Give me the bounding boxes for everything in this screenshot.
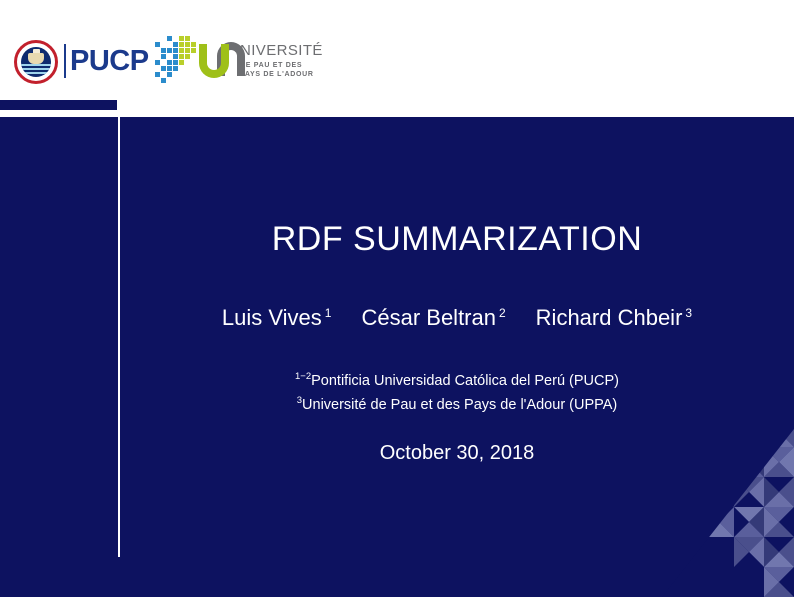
- pucp-wordmark: PUCP: [70, 45, 149, 77]
- uppa-pixel-square: [185, 54, 190, 59]
- title-content-block: RDF SUMMARIZATION Luis Vives1César Beltr…: [120, 117, 794, 597]
- author-affiliation-marker: 1: [325, 306, 332, 320]
- affiliation-list: 1−2Pontificia Universidad Católica del P…: [120, 367, 794, 415]
- uppa-letter-u-shape: [199, 44, 229, 78]
- uppa-pixel-square: [185, 48, 190, 53]
- page-title: RDF SUMMARIZATION: [120, 220, 794, 259]
- author-name: Richard Chbeir3: [536, 305, 692, 331]
- slide-body-panel: RDF SUMMARIZATION Luis Vives1César Beltr…: [0, 117, 794, 597]
- uppa-pixel-square: [161, 54, 166, 59]
- uppa-pixel-square: [173, 66, 178, 71]
- author-name: César Beltran2: [361, 305, 505, 331]
- uppa-pixel-square: [155, 72, 160, 77]
- pucp-boat-shape: [28, 53, 44, 64]
- author-affiliation-marker: 3: [685, 306, 692, 320]
- uppa-pixel-square: [161, 78, 166, 83]
- uppa-wordmark-line2: DE PAU ET DES: [240, 61, 323, 70]
- pucp-divider: [64, 44, 66, 78]
- uppa-pixel-square: [161, 66, 166, 71]
- uppa-wordmark-line3: PAYS DE L'ADOUR: [240, 70, 323, 79]
- uppa-wordmark: NIVERSITÉ DE PAU ET DES PAYS DE L'ADOUR: [240, 43, 323, 79]
- accent-bar: [0, 100, 117, 110]
- pucp-crest-icon: [14, 40, 58, 84]
- uppa-pixel-square: [179, 42, 184, 47]
- uppa-wordmark-line1: NIVERSITÉ: [240, 43, 323, 59]
- uppa-pixel-square: [179, 54, 184, 59]
- author-list: Luis Vives1César Beltran2Richard Chbeir3: [120, 305, 794, 331]
- presentation-title-slide: PUCP NIVERSITÉ DE PAU ET DES PAYS DE L'A…: [0, 0, 794, 597]
- uppa-pixel-square: [155, 60, 160, 65]
- pucp-crest-field: [21, 47, 51, 77]
- affiliation-marker: 1−2: [295, 371, 311, 382]
- uppa-logo: NIVERSITÉ DE PAU ET DES PAYS DE L'ADOUR: [155, 36, 295, 88]
- presentation-date: October 30, 2018: [120, 442, 794, 465]
- affiliation-marker: 3: [297, 395, 302, 406]
- uppa-pixel-square: [185, 36, 190, 41]
- uppa-pixel-square: [173, 54, 178, 59]
- uppa-pixel-square: [173, 48, 178, 53]
- uppa-pixel-square: [173, 42, 178, 47]
- uppa-pixel-square: [191, 42, 196, 47]
- uppa-pixel-square: [179, 48, 184, 53]
- logo-header-band: PUCP NIVERSITÉ DE PAU ET DES PAYS DE L'A…: [0, 0, 794, 100]
- uppa-pixel-square: [155, 42, 160, 47]
- uppa-pixel-square: [167, 48, 172, 53]
- uppa-pixel-square: [191, 48, 196, 53]
- uppa-pixel-square: [179, 60, 184, 65]
- uppa-pixel-square: [185, 42, 190, 47]
- uppa-pixel-square: [167, 66, 172, 71]
- author-name: Luis Vives1: [222, 305, 332, 331]
- uppa-pixel-square: [161, 48, 166, 53]
- uppa-pixel-square: [167, 72, 172, 77]
- pucp-waves-shape: [21, 64, 51, 75]
- affiliation-line: 1−2Pontificia Universidad Católica del P…: [120, 367, 794, 391]
- uppa-pixel-square: [167, 36, 172, 41]
- affiliation-line: 3Université de Pau et des Pays de l'Adou…: [120, 391, 794, 415]
- pucp-logo: PUCP: [14, 38, 140, 86]
- uppa-pixel-square: [167, 60, 172, 65]
- author-affiliation-marker: 2: [499, 306, 506, 320]
- uppa-pixel-square: [179, 36, 184, 41]
- uppa-pixel-square: [173, 60, 178, 65]
